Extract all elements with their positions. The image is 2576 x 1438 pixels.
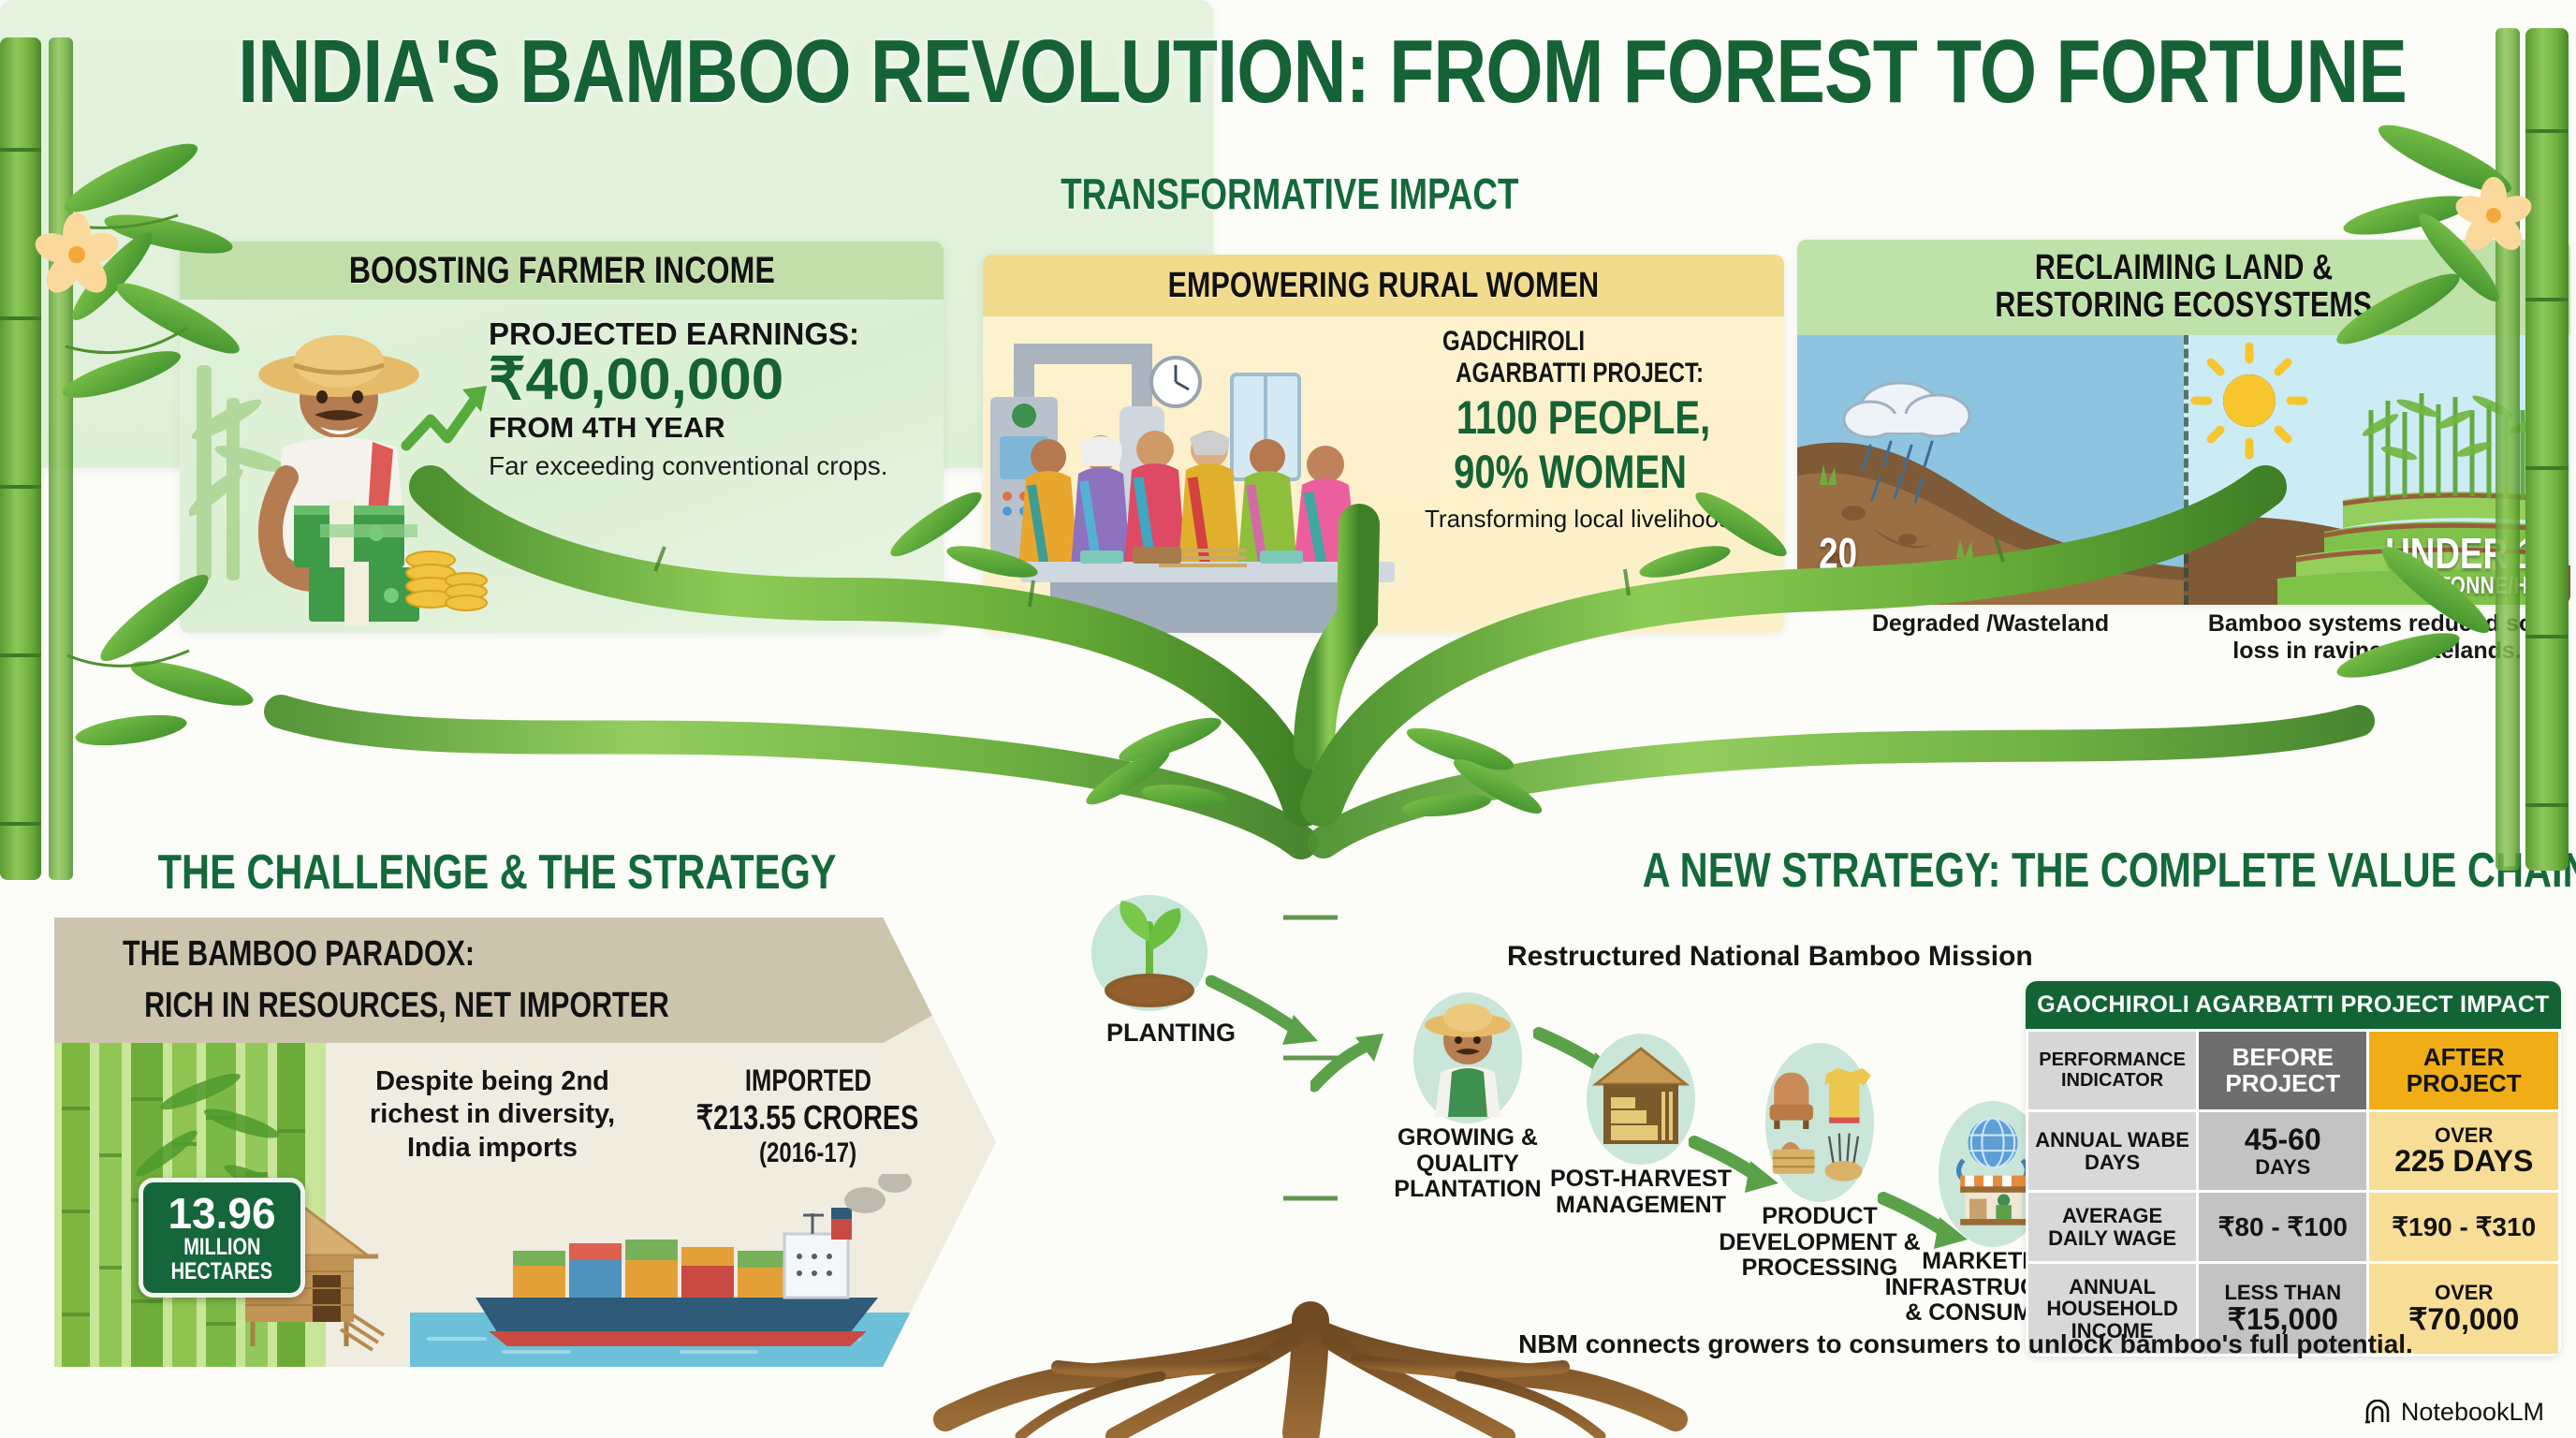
farmer-icon bbox=[1413, 992, 1522, 1123]
value-chain-steps: GROWING & QUALITY PLANTATION POST-HARVES… bbox=[1359, 992, 2108, 1329]
degraded-soil-loss-stat: 20 TONNES/HA bbox=[1814, 533, 1961, 597]
notebooklm-label: NotebookLM bbox=[2401, 1398, 2544, 1427]
bamboo-paradox-heading: THE BAMBOO PARADOX: RICH IN RESOURCES, N… bbox=[54, 917, 996, 1043]
page-title-text: INDIA'S BAMBOO REVOLUTION: FROM FOREST T… bbox=[238, 21, 2407, 124]
table-title: GAOCHIROLI AGARBATTI PROJECT IMPACT bbox=[2026, 981, 2561, 1029]
col-after: AFTER PROJECT bbox=[2369, 1032, 2558, 1109]
panel-boosting-farmer-income: BOOSTING FARMER INCOME bbox=[180, 242, 944, 633]
warehouse-icon bbox=[1587, 1034, 1695, 1165]
infographic-canvas: INDIA'S BAMBOO REVOLUTION: FROM FOREST T… bbox=[0, 0, 2576, 1438]
gadchiroli-impact-table: GAOCHIROLI AGARBATTI PROJECT IMPACT PERF… bbox=[2026, 981, 2561, 1357]
bamboo-terrace-illustration: UNDER 1 TONNE/HA bbox=[2184, 335, 2570, 605]
col-indicator: PERFORMANCE INDICATOR bbox=[2028, 1032, 2196, 1109]
women-stat-line1: 1100 PEOPLE, bbox=[1456, 392, 1710, 443]
hectares-number: 13.96 bbox=[168, 1192, 275, 1235]
farmer-with-money-illustration bbox=[189, 309, 498, 627]
col-before: BEFORE PROJECT bbox=[2199, 1032, 2366, 1109]
table-row: AVERAGE DAILY WAGE ₹80 - ₹100 ₹190 - ₹31… bbox=[2028, 1193, 2558, 1261]
growth-arrow-icon bbox=[406, 386, 487, 446]
panel-bamboo-paradox: THE BAMBOO PARADOX: RICH IN RESOURCES, N… bbox=[54, 917, 996, 1367]
row-before: ₹80 - ₹100 bbox=[2199, 1193, 2366, 1261]
projected-earnings-note: Far exceeding conventional crops. bbox=[489, 450, 929, 481]
value-chain-footer: NBM connects growers to consumers to unl… bbox=[1359, 1329, 2572, 1359]
projected-earnings-from: FROM 4TH YEAR bbox=[489, 411, 929, 445]
paradox-import-stats: IMPORTED ₹213.55 CRORES (2016-17) bbox=[653, 1064, 962, 1169]
gadchiroli-project-line2: AGARBATTI PROJECT: bbox=[1456, 358, 1704, 389]
women-panel-heading: EMPOWERING RURAL WOMEN bbox=[983, 255, 1784, 316]
row-after: ₹190 - ₹310 bbox=[2369, 1193, 2558, 1261]
notebooklm-watermark: NotebookLM bbox=[2364, 1398, 2544, 1427]
page-title: INDIA'S BAMBOO REVOLUTION: FROM FOREST T… bbox=[0, 21, 2576, 124]
table-header-row: PERFORMANCE INDICATOR BEFORE PROJECT AFT… bbox=[2028, 1032, 2558, 1109]
land-panel-heading: RECLAIMING LAND & RESTORING ECOSYSTEMS bbox=[1797, 240, 2570, 335]
land-caption-left: Degraded /Wasteland bbox=[1797, 610, 2184, 665]
row-before: 45-60 DAYS bbox=[2199, 1112, 2366, 1190]
land-captions: Degraded /Wasteland Bamboo systems reduc… bbox=[1797, 610, 2570, 665]
panel-reclaiming-land: RECLAIMING LAND & RESTORING ECOSYSTEMS bbox=[1797, 240, 2570, 605]
notebooklm-logo-icon bbox=[2364, 1400, 2392, 1426]
badge-million-hectares: 13.96 MILLION HECTARES bbox=[139, 1178, 305, 1298]
women-workshop-illustration bbox=[983, 316, 1432, 633]
row-after: OVER 225 DAYS bbox=[2369, 1112, 2558, 1190]
farmer-stats: PROJECTED EARNINGS: ₹40,00,000 FROM 4TH … bbox=[489, 316, 929, 481]
table-row: ANNUAL WABE DAYS 45-60 DAYS OVER 225 DAY… bbox=[2028, 1112, 2558, 1190]
products-icon bbox=[1765, 1043, 1874, 1202]
women-note: Transforming local livelihoods. bbox=[1425, 505, 1780, 533]
row-indicator: ANNUAL WABE DAYS bbox=[2028, 1112, 2196, 1190]
degraded-wasteland-illustration: 20 TONNES/HA bbox=[1797, 335, 2184, 605]
chain-entry-arrow-icon bbox=[1310, 1032, 1395, 1097]
gadchiroli-project-line1: GADCHIROLI bbox=[1442, 326, 1585, 358]
projected-earnings-amount: ₹40,00,000 bbox=[489, 350, 929, 409]
paradox-text-left: Despite being 2nd richest in diversity, … bbox=[352, 1065, 633, 1165]
farmer-panel-heading: BOOSTING FARMER INCOME bbox=[180, 242, 944, 300]
women-stats: GADCHIROLI AGARBATTI PROJECT: 1100 PEOPL… bbox=[1425, 326, 1780, 533]
panel-empowering-rural-women: EMPOWERING RURAL WOMEN bbox=[983, 255, 1784, 633]
row-indicator: AVERAGE DAILY WAGE bbox=[2028, 1193, 2196, 1261]
chain-step-label: GROWING & QUALITY PLANTATION bbox=[1374, 1125, 1561, 1203]
land-caption-right: Bamboo systems reduced soil loss in ravi… bbox=[2184, 610, 2570, 665]
sun-icon bbox=[2195, 346, 2304, 455]
women-stat-line2: 90% WOMEN bbox=[1454, 447, 1687, 497]
section-heading-new-strategy: A NEW STRATEGY: THE COMPLETE VALUE CHAIN bbox=[1524, 843, 2576, 899]
impact-table: PERFORMANCE INDICATOR BEFORE PROJECT AFT… bbox=[2026, 1029, 2561, 1357]
bamboo-soil-loss-stat: UNDER 1 TONNE/HA bbox=[2366, 533, 2555, 597]
hut-and-cargo-ship-illustration bbox=[195, 1174, 1018, 1367]
section-heading-transformative-impact: TRANSFORMATIVE IMPACT bbox=[1003, 169, 1576, 219]
section-heading-challenge-strategy: THE CHALLENGE & THE STRATEGY bbox=[73, 844, 921, 901]
value-chain-subtitle: Restructured National Bamboo Mission bbox=[1507, 941, 2033, 973]
land-comparison-divider bbox=[2184, 335, 2188, 605]
